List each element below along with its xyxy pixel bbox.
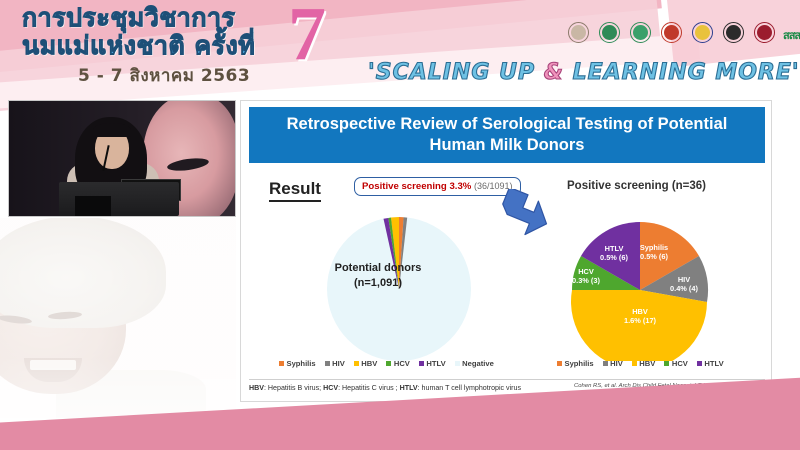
footnote-htlv-abbr: HTLV <box>400 384 418 392</box>
baby-photo <box>0 218 236 418</box>
logo-sss-icon: สสส <box>783 26 800 44</box>
footnote-htlv-text: : human T cell lymphotropic virus <box>418 384 521 392</box>
legend-label-hiv: HIV <box>610 359 623 368</box>
slide-title: Retrospective Review of Serological Test… <box>249 107 765 163</box>
legend-potential-donors: Syphilis HIV HBV HCV HTLV Negative <box>279 359 494 368</box>
logo-crimson-icon <box>752 22 777 47</box>
legend-item-syphilis[interactable]: Syphilis <box>279 359 316 368</box>
footnote-hcv-text: : Hepatitis C virus ; <box>338 384 400 392</box>
logo-royal-icon <box>690 22 715 47</box>
legend-label-hbv: HBV <box>361 359 377 368</box>
legend-item-hiv[interactable]: HIV <box>325 359 345 368</box>
logo-black-emblem-icon <box>721 22 746 47</box>
slogan-post: LEARNING MORE' <box>564 60 800 85</box>
legend-label-hcv: HCV <box>394 359 410 368</box>
conference-edition-number: 7 <box>288 0 326 72</box>
logo-red-emblem-icon <box>659 22 684 47</box>
presentation-slide: Retrospective Review of Serological Test… <box>240 100 772 402</box>
pie-slice-hbv[interactable] <box>571 290 707 361</box>
logo-green-1-icon <box>597 22 622 47</box>
speaker-video-feed[interactable] <box>8 100 236 217</box>
legend-item-hbv[interactable]: HBV <box>632 359 656 368</box>
legend-label-hcv: HCV <box>672 359 688 368</box>
legend-item-htlv[interactable]: HTLV <box>697 359 724 368</box>
podium-front <box>75 196 111 216</box>
callout-percent-text: Positive screening 3.3% <box>362 181 471 192</box>
legend-label-hiv: HIV <box>332 359 345 368</box>
legend-label-htlv: HTLV <box>426 359 445 368</box>
legend-item-hiv[interactable]: HIV <box>603 359 623 368</box>
legend-item-hcv[interactable]: HCV <box>386 359 410 368</box>
legend-label-negative: Negative <box>462 359 494 368</box>
slogan-pre: 'SCALING UP <box>368 60 544 85</box>
legend-item-hcv[interactable]: HCV <box>664 359 688 368</box>
legend-label-htlv: HTLV <box>704 359 723 368</box>
footnote-hbv-abbr: HBV <box>249 384 264 392</box>
legend-label-syphilis: Syphilis <box>565 359 594 368</box>
speaker-fringe <box>93 123 131 137</box>
conference-date: 5 - 7 สิงหาคม 2563 <box>78 62 250 89</box>
logo-green-2-icon <box>628 22 653 47</box>
legend-label-hbv: HBV <box>639 359 655 368</box>
legend-item-htlv[interactable]: HTLV <box>419 359 446 368</box>
potential-donors-line2: (n=1,091) <box>303 276 453 291</box>
conference-header: การประชุมวิชาการ นมแม่แห่งชาติ ครั้งที่ … <box>0 0 800 95</box>
potential-donors-center-label: Potential donors (n=1,091) <box>303 261 453 291</box>
positive-screening-title: Positive screening (n=36) <box>567 180 706 192</box>
slogan-ampersand: & <box>544 60 564 85</box>
conference-thai-title: การประชุมวิชาการ นมแม่แห่งชาติ ครั้งที่ <box>22 4 255 60</box>
result-label: Result <box>269 179 321 202</box>
footnote-hcv-abbr: HCV <box>323 384 338 392</box>
footnote-hbv-text: : Hepatitis B virus; <box>264 384 323 392</box>
baby-photo-fade <box>0 218 236 418</box>
logo-ministry-icon <box>566 22 591 47</box>
legend-item-syphilis[interactable]: Syphilis <box>557 359 594 368</box>
positive-screening-pie-chart[interactable] <box>565 219 715 361</box>
legend-label-syphilis: Syphilis <box>287 359 316 368</box>
positive-screening-callout: Positive screening 3.3% (36/1091) <box>354 177 521 196</box>
legend-item-negative[interactable]: Negative <box>455 359 494 368</box>
potential-donors-line1: Potential donors <box>303 261 453 276</box>
sponsor-logos: สสส <box>566 22 800 47</box>
legend-positive-screening: Syphilis HIV HBV HCV HTLV <box>557 359 724 368</box>
screenshot-stage: การประชุมวิชาการ นมแม่แห่งชาติ ครั้งที่ … <box>0 0 800 450</box>
legend-item-hbv[interactable]: HBV <box>354 359 378 368</box>
conference-slogan: 'SCALING UP & LEARNING MORE' <box>368 60 800 85</box>
